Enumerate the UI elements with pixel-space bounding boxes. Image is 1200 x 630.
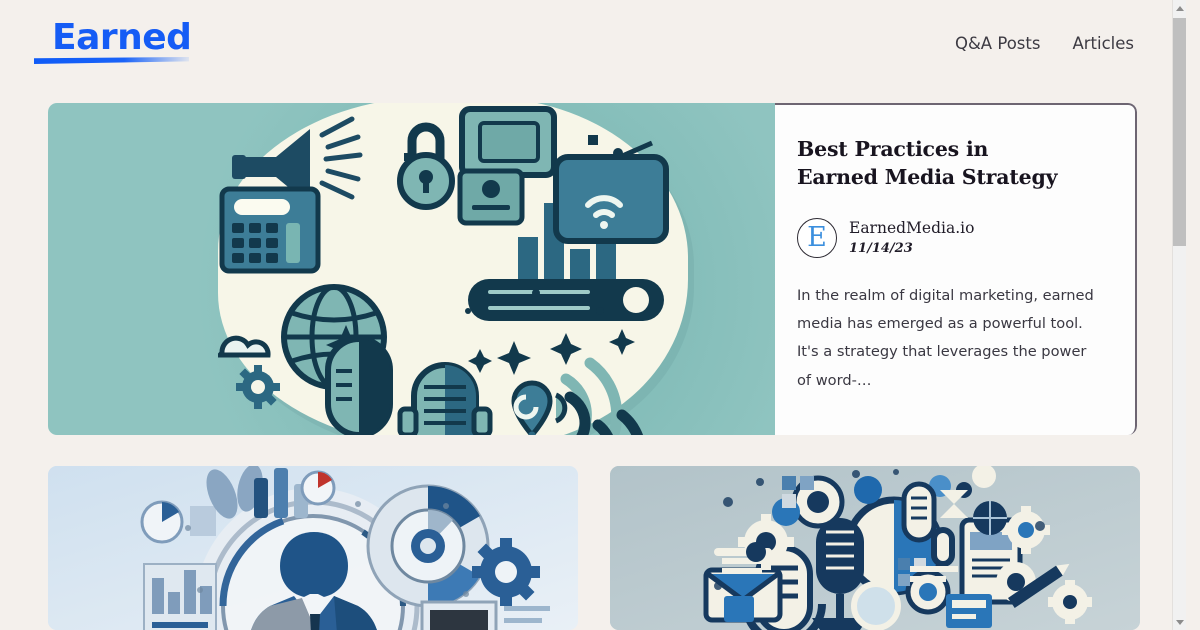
featured-article-content: Best Practices in Earned Media Strategy … — [775, 103, 1137, 435]
featured-article-card[interactable]: Best Practices in Earned Media Strategy … — [48, 103, 1137, 435]
nav-link-articles[interactable]: Articles — [1072, 34, 1134, 53]
article-card-1[interactable] — [48, 466, 578, 630]
scrollbar-thumb[interactable] — [1173, 18, 1186, 246]
site-header: Earned Q&A Posts Articles — [0, 0, 1186, 86]
page-root: Earned Q&A Posts Articles — [0, 0, 1186, 630]
scroll-up-button[interactable] — [1173, 0, 1186, 16]
triangle-up-icon — [1176, 6, 1184, 11]
triangle-down-icon — [1176, 620, 1184, 625]
featured-article-title: Best Practices in Earned Media Strategy — [797, 135, 1101, 192]
logo[interactable]: Earned — [34, 20, 191, 66]
byline: E EarnedMedia.io 11/14/23 — [797, 218, 1101, 258]
vertical-scrollbar[interactable] — [1172, 0, 1186, 630]
title-line-2: Earned Media Strategy — [797, 165, 1057, 189]
media-icons-collage-illustration — [610, 466, 1140, 630]
article-card-2[interactable] — [610, 466, 1140, 630]
article-excerpt: In the realm of digital marketing, earne… — [797, 282, 1101, 396]
byline-meta: EarnedMedia.io 11/14/23 — [849, 219, 974, 256]
title-line-1: Best Practices in — [797, 137, 988, 161]
main-navigation: Q&A Posts Articles — [955, 34, 1134, 53]
publish-date: 11/14/23 — [849, 241, 974, 256]
avatar: E — [797, 218, 837, 258]
featured-article-image — [48, 103, 775, 435]
article-card-row — [48, 466, 1140, 630]
business-analytics-illustration — [48, 466, 578, 630]
logo-underline-accent — [34, 57, 189, 64]
scroll-down-button[interactable] — [1173, 614, 1186, 630]
nav-link-qa-posts[interactable]: Q&A Posts — [955, 34, 1041, 53]
logo-text: Earned — [34, 20, 191, 56]
media-icons-illustration — [218, 103, 698, 435]
author-name: EarnedMedia.io — [849, 219, 974, 237]
